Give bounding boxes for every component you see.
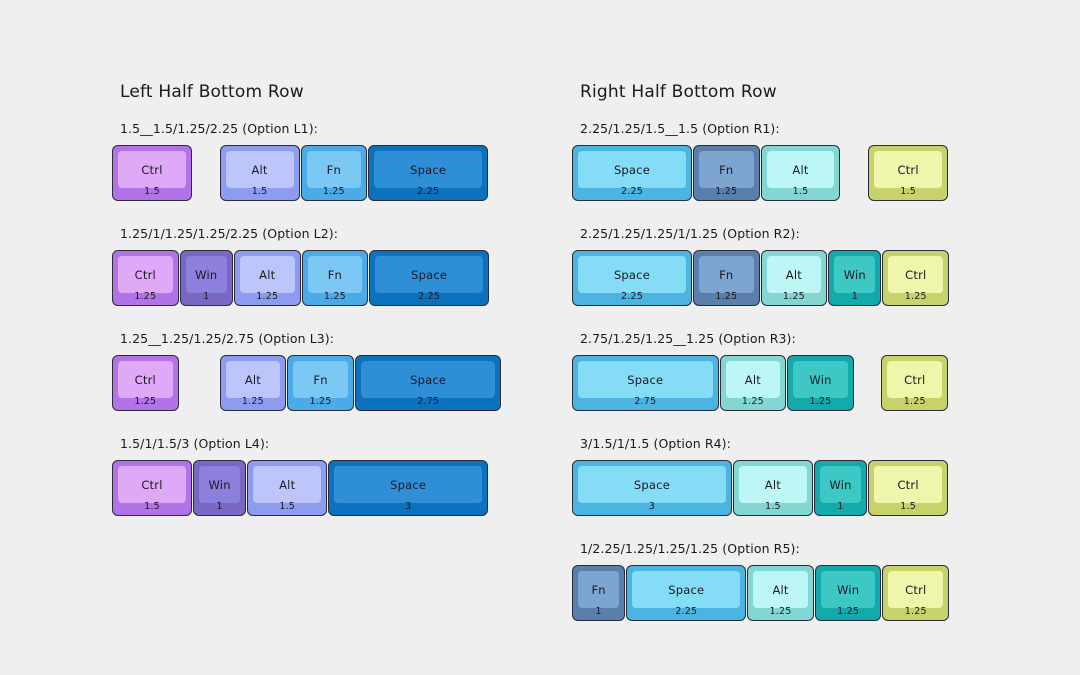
keycap-size-label: 1 (194, 501, 245, 512)
keycap-fn[interactable]: Fn1.25 (287, 355, 354, 411)
keycap-alt[interactable]: Alt1.5 (247, 460, 327, 516)
keycap-alt[interactable]: Alt1.25 (234, 250, 301, 306)
keycap-win[interactable]: Win1.25 (815, 565, 882, 621)
key-row: Ctrl1.5Alt1.5Fn1.25Space2.25 (112, 145, 502, 203)
keycap-size-label: 2.25 (573, 186, 691, 197)
keycap-surface: Fn (308, 256, 363, 293)
option-label: 1.25/1/1.25/1.25/2.25 (Option L2): (120, 226, 502, 241)
keycap-size-label: 1.25 (882, 396, 947, 407)
keycap-size-label: 1.25 (221, 396, 286, 407)
keycap-legend: Space (410, 373, 446, 387)
keycap-legend: Alt (745, 373, 761, 387)
keycap-ctrl[interactable]: Ctrl1.5 (868, 145, 948, 201)
keycap-size-label: 1.5 (869, 186, 947, 197)
keycap-surface: Space (578, 151, 686, 188)
keycap-size-label: 1 (573, 606, 624, 617)
keycap-size-label: 2.25 (369, 186, 487, 197)
option-block: 2.25/1.25/1.5__1.5 (Option R1):Space2.25… (572, 121, 950, 203)
keycap-legend: Alt (772, 583, 788, 597)
keycap-alt[interactable]: Alt1.25 (220, 355, 287, 411)
keycap-win[interactable]: Win1 (828, 250, 881, 306)
keycap-legend: Alt (786, 268, 802, 282)
keycap-size-label: 1.5 (734, 501, 812, 512)
keycap-alt[interactable]: Alt1.5 (733, 460, 813, 516)
keycap-size-label: 2.25 (370, 291, 488, 302)
keycap-surface: Win (821, 571, 876, 608)
keycap-size-label: 1.25 (762, 291, 827, 302)
keycap-surface: Ctrl (874, 466, 942, 503)
keycap-size-label: 2.25 (573, 291, 691, 302)
keycap-legend: Fn (327, 163, 341, 177)
option-label: 2.25/1.25/1.25/1/1.25 (Option R2): (580, 226, 950, 241)
keycap-surface: Space (374, 151, 482, 188)
keycap-space[interactable]: Space2.25 (572, 250, 692, 306)
keycap-legend: Fn (591, 583, 605, 597)
key-row: Fn1Space2.25Alt1.25Win1.25Ctrl1.25 (572, 565, 950, 623)
key-row: Space2.25Fn1.25Alt1.5Ctrl1.5 (572, 145, 950, 203)
keycap-surface: Fn (699, 256, 754, 293)
keycap-surface: Alt (226, 361, 281, 398)
keycap-space[interactable]: Space2.25 (572, 145, 692, 201)
keycap-legend: Ctrl (135, 268, 156, 282)
keycap-legend: Ctrl (141, 163, 162, 177)
key-row: Ctrl1.25Win1Alt1.25Fn1.25Space2.25 (112, 250, 502, 308)
option-block: 1.5/1/1.5/3 (Option L4):Ctrl1.5Win1Alt1.… (112, 436, 502, 518)
keycap-legend: Win (829, 478, 851, 492)
keycap-size-label: 1.25 (113, 291, 178, 302)
keycap-size-label: 1.25 (788, 396, 853, 407)
key-gap (841, 145, 868, 146)
keycap-space[interactable]: Space2.25 (369, 250, 489, 306)
option-block: 2.25/1.25/1.25/1/1.25 (Option R2):Space2… (572, 226, 950, 308)
keycap-legend: Fn (313, 373, 327, 387)
keycap-surface: Fn (699, 151, 754, 188)
keycap-legend: Ctrl (904, 373, 925, 387)
key-row: Space3Alt1.5Win1Ctrl1.5 (572, 460, 950, 518)
keycap-size-label: 2.25 (627, 606, 745, 617)
keycap-alt[interactable]: Alt1.5 (220, 145, 300, 201)
keycap-surface: Fn (307, 151, 362, 188)
keycap-size-label: 3 (329, 501, 487, 512)
keycap-legend: Fn (719, 268, 733, 282)
key-gap (855, 355, 882, 356)
keycap-ctrl[interactable]: Ctrl1.5 (868, 460, 948, 516)
keycap-surface: Win (834, 256, 875, 293)
keycap-surface: Space (578, 361, 713, 398)
keycap-fn[interactable]: Fn1.25 (693, 250, 760, 306)
column-title-right: Right Half Bottom Row (580, 82, 950, 102)
keycap-ctrl[interactable]: Ctrl1.25 (112, 355, 179, 411)
keycap-size-label: 1.25 (694, 291, 759, 302)
keycap-alt[interactable]: Alt1.25 (747, 565, 814, 621)
keycap-legend: Space (668, 583, 704, 597)
keycap-size-label: 1.25 (694, 186, 759, 197)
keycap-surface: Alt (726, 361, 781, 398)
keycap-legend: Space (614, 163, 650, 177)
keycap-win[interactable]: Win1.25 (787, 355, 854, 411)
keycap-size-label: 1.25 (113, 396, 178, 407)
keycap-legend: Ctrl (897, 163, 918, 177)
keycap-ctrl[interactable]: Ctrl1.25 (112, 250, 179, 306)
keycap-size-label: 3 (573, 501, 731, 512)
keycap-ctrl[interactable]: Ctrl1.5 (112, 460, 192, 516)
keycap-size-label: 1.5 (113, 186, 191, 197)
keycap-surface: Ctrl (118, 361, 173, 398)
keycap-legend: Alt (245, 373, 261, 387)
keycap-legend: Ctrl (135, 373, 156, 387)
option-block: 1.25/1/1.25/1.25/2.25 (Option L2):Ctrl1.… (112, 226, 502, 308)
keycap-size-label: 1.25 (748, 606, 813, 617)
keycap-size-label: 1 (815, 501, 866, 512)
keycap-surface: Alt (226, 151, 294, 188)
keycap-surface: Alt (767, 256, 822, 293)
keycap-ctrl[interactable]: Ctrl1.5 (112, 145, 192, 201)
keycap-surface: Ctrl (118, 256, 173, 293)
keycap-fn[interactable]: Fn1.25 (693, 145, 760, 201)
keycap-legend: Space (614, 268, 650, 282)
keycap-surface: Space (578, 466, 726, 503)
keycap-surface: Fn (578, 571, 619, 608)
keycap-legend: Win (809, 373, 831, 387)
keycap-size-label: 1.5 (762, 186, 840, 197)
option-block: 1.5__1.5/1.25/2.25 (Option L1):Ctrl1.5Al… (112, 121, 502, 203)
keycap-legend: Space (390, 478, 426, 492)
keycap-space[interactable]: Space2.25 (368, 145, 488, 201)
keycap-size-label: 2.75 (356, 396, 501, 407)
keycap-surface: Ctrl (888, 256, 943, 293)
keycap-ctrl[interactable]: Ctrl1.25 (881, 355, 948, 411)
keycap-surface: Alt (240, 256, 295, 293)
keycap-surface: Alt (253, 466, 321, 503)
keycap-size-label: 1.5 (248, 501, 326, 512)
key-row: Ctrl1.25Alt1.25Fn1.25Space2.75 (112, 355, 502, 413)
keycap-layout-diagram: Left Half Bottom Row1.5__1.5/1.25/2.25 (… (0, 0, 1080, 675)
keycap-size-label: 1.5 (113, 501, 191, 512)
keycap-size-label: 1.5 (221, 186, 299, 197)
keycap-surface: Win (199, 466, 240, 503)
keycap-legend: Space (627, 373, 663, 387)
keycap-legend: Alt (765, 478, 781, 492)
keycap-legend: Alt (792, 163, 808, 177)
keycap-legend: Ctrl (897, 478, 918, 492)
column-left: Left Half Bottom Row1.5__1.5/1.25/2.25 (… (112, 82, 502, 541)
key-row: Ctrl1.5Win1Alt1.5Space3 (112, 460, 502, 518)
keycap-win[interactable]: Win1 (193, 460, 246, 516)
keycap-size-label: 1.5 (869, 501, 947, 512)
option-label: 1.5__1.5/1.25/2.25 (Option L1): (120, 121, 502, 136)
keycap-legend: Alt (251, 163, 267, 177)
keycap-space[interactable]: Space2.75 (572, 355, 719, 411)
keycap-legend: Space (634, 478, 670, 492)
keycap-legend: Win (195, 268, 217, 282)
keycap-legend: Space (411, 268, 447, 282)
keycap-legend: Alt (259, 268, 275, 282)
keycap-legend: Alt (279, 478, 295, 492)
option-label: 3/1.5/1/1.5 (Option R4): (580, 436, 950, 451)
keycap-legend: Space (410, 163, 446, 177)
option-label: 2.25/1.25/1.5__1.5 (Option R1): (580, 121, 950, 136)
keycap-surface: Space (334, 466, 482, 503)
keycap-surface: Win (820, 466, 861, 503)
keycap-surface: Alt (767, 151, 835, 188)
keycap-win[interactable]: Win1 (814, 460, 867, 516)
keycap-surface: Space (375, 256, 483, 293)
keycap-size-label: 1 (181, 291, 232, 302)
keycap-legend: Ctrl (141, 478, 162, 492)
keycap-legend: Fn (328, 268, 342, 282)
option-block: 1/2.25/1.25/1.25/1.25 (Option R5):Fn1Spa… (572, 541, 950, 623)
column-right: Right Half Bottom Row2.25/1.25/1.5__1.5 … (572, 82, 950, 646)
option-label: 1.25__1.25/1.25/2.75 (Option L3): (120, 331, 502, 346)
keycap-space[interactable]: Space2.25 (626, 565, 746, 621)
keycap-alt[interactable]: Alt1.5 (761, 145, 841, 201)
keycap-fn[interactable]: Fn1 (572, 565, 625, 621)
keycap-surface: Space (632, 571, 740, 608)
column-title-left: Left Half Bottom Row (120, 82, 502, 102)
keycap-surface: Fn (293, 361, 348, 398)
keycap-fn[interactable]: Fn1.25 (302, 250, 369, 306)
key-row: Space2.75Alt1.25Win1.25Ctrl1.25 (572, 355, 950, 413)
keycap-size-label: 2.75 (573, 396, 718, 407)
keycap-ctrl[interactable]: Ctrl1.25 (882, 250, 949, 306)
keycap-surface: Ctrl (888, 571, 943, 608)
keycap-surface: Space (361, 361, 496, 398)
keycap-space[interactable]: Space2.75 (355, 355, 502, 411)
keycap-legend: Ctrl (905, 583, 926, 597)
key-row: Space2.25Fn1.25Alt1.25Win1Ctrl1.25 (572, 250, 950, 308)
keycap-surface: Win (186, 256, 227, 293)
keycap-surface: Ctrl (118, 466, 186, 503)
keycap-size-label: 1.25 (721, 396, 786, 407)
keycap-surface: Ctrl (874, 151, 942, 188)
keycap-surface: Ctrl (887, 361, 942, 398)
keycap-size-label: 1.25 (303, 291, 368, 302)
keycap-size-label: 1.25 (816, 606, 881, 617)
keycap-size-label: 1.25 (302, 186, 367, 197)
keycap-size-label: 1.25 (235, 291, 300, 302)
option-label: 1/2.25/1.25/1.25/1.25 (Option R5): (580, 541, 950, 556)
keycap-legend: Fn (719, 163, 733, 177)
keycap-space[interactable]: Space3 (572, 460, 732, 516)
keycap-legend: Win (208, 478, 230, 492)
option-block: 3/1.5/1/1.5 (Option R4):Space3Alt1.5Win1… (572, 436, 950, 518)
keycap-ctrl[interactable]: Ctrl1.25 (882, 565, 949, 621)
keycap-surface: Win (793, 361, 848, 398)
keycap-size-label: 1.25 (883, 606, 948, 617)
keycap-size-label: 1 (829, 291, 880, 302)
key-gap (193, 145, 220, 146)
keycap-fn[interactable]: Fn1.25 (301, 145, 368, 201)
keycap-legend: Win (844, 268, 866, 282)
keycap-legend: Ctrl (905, 268, 926, 282)
keycap-surface: Alt (739, 466, 807, 503)
option-block: 2.75/1.25/1.25__1.25 (Option R3):Space2.… (572, 331, 950, 413)
keycap-alt[interactable]: Alt1.25 (720, 355, 787, 411)
keycap-win[interactable]: Win1 (180, 250, 233, 306)
keycap-surface: Alt (753, 571, 808, 608)
key-gap (180, 355, 220, 356)
option-label: 2.75/1.25/1.25__1.25 (Option R3): (580, 331, 950, 346)
keycap-surface: Space (578, 256, 686, 293)
option-block: 1.25__1.25/1.25/2.75 (Option L3):Ctrl1.2… (112, 331, 502, 413)
keycap-legend: Win (837, 583, 859, 597)
keycap-surface: Ctrl (118, 151, 186, 188)
keycap-size-label: 1.25 (883, 291, 948, 302)
keycap-alt[interactable]: Alt1.25 (761, 250, 828, 306)
option-label: 1.5/1/1.5/3 (Option L4): (120, 436, 502, 451)
keycap-size-label: 1.25 (288, 396, 353, 407)
keycap-space[interactable]: Space3 (328, 460, 488, 516)
